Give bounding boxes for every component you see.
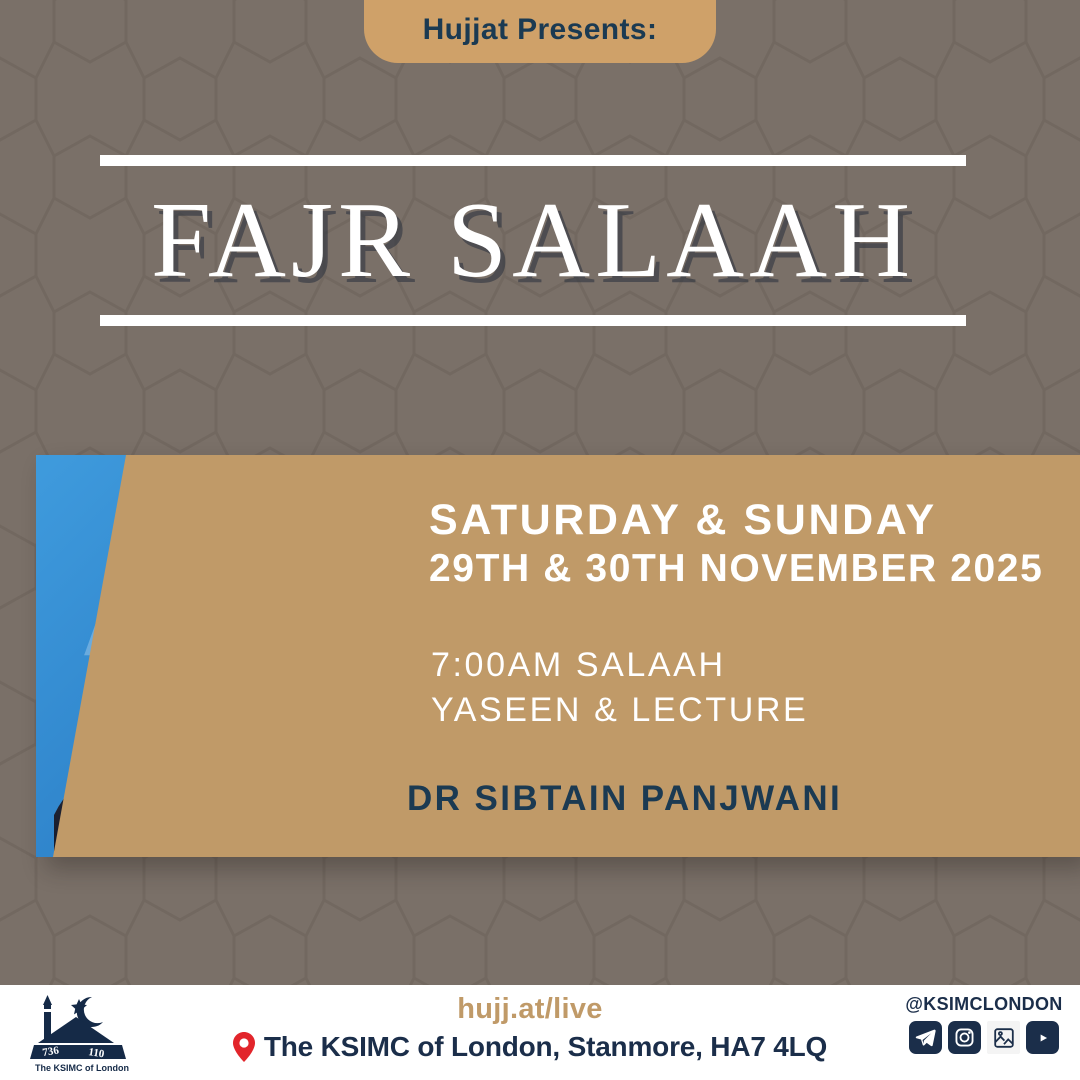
venue-row: The KSIMC of London, Stanmore, HA7 4LQ [170,1031,890,1063]
svg-text:110: 110 [88,1046,106,1060]
social-icons-row [904,1021,1064,1054]
ksimc-logo: 736 110 The KSIMC of London [26,991,138,1075]
site-url-link[interactable]: hujj.at/live [170,993,890,1026]
event-poster: Hujjat Presents: FAJR SALAAH [0,0,1080,1080]
youtube-icon[interactable] [1026,1021,1059,1054]
logo-caption: The KSIMC of London [35,1063,129,1073]
broken-image-icon[interactable] [987,1021,1020,1054]
location-pin-icon [233,1032,255,1062]
presents-banner: Hujjat Presents: [364,0,716,63]
event-program: YASEEN & LECTURE [431,691,808,730]
title-rule-bottom [100,315,966,326]
title-rule-top [100,155,966,166]
footer-center-group: hujj.at/live The KSIMC of London, Stanmo… [170,993,890,1063]
social-handle: @KSIMCLONDON [904,994,1064,1015]
title-block: FAJR SALAAH [100,155,966,326]
event-date-days: SATURDAY & SUNDAY [429,496,937,545]
event-details-card: A U C O [36,455,1080,857]
speaker-name: DR SIBTAIN PANJWANI [407,779,842,819]
event-date-full: 29TH & 30TH NOVEMBER 2025 [429,547,1043,591]
page-title: FAJR SALAAH [100,166,966,315]
instagram-icon[interactable] [948,1021,981,1054]
venue-address: The KSIMC of London, Stanmore, HA7 4LQ [264,1031,827,1063]
details-text-group: SATURDAY & SUNDAY 29TH & 30TH NOVEMBER 2… [429,455,1069,857]
footer-bar: 736 110 The KSIMC of London hujj.at/live… [0,985,1080,1080]
presents-label: Hujjat Presents: [423,13,658,47]
telegram-icon[interactable] [909,1021,942,1054]
social-group: @KSIMCLONDON [904,994,1064,1054]
event-time: 7:00AM SALAAH [431,646,726,685]
